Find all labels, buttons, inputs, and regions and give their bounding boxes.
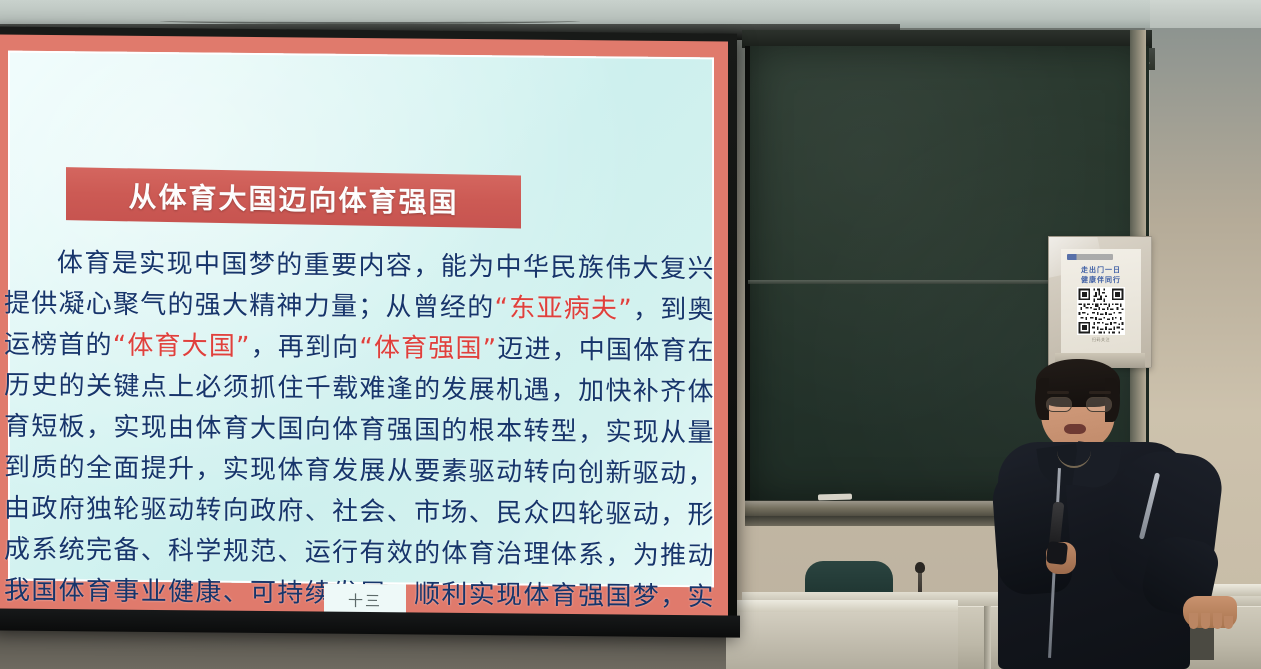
microphone-grip [1046,541,1068,565]
poster-headline-1: 走出门一日 [1061,265,1141,275]
ceiling-cable [160,18,580,24]
slide-title-banner: 从体育大国迈向体育强国 [66,167,521,228]
poster-headline-2: 健康伴同行 [1061,275,1141,285]
glasses-lens-right [1086,397,1112,412]
slide-title: 从体育大国迈向体育强国 [128,175,458,221]
presentation-slide: 从体育大国迈向体育强国 体育是实现中国梦的重要内容，能为中华民族伟大复兴提供凝心… [0,34,728,619]
presenter-brow-left [1047,391,1069,394]
finger [1201,613,1210,629]
slide-page-number: 十三 [348,589,382,610]
lecture-hall-scene: 走出门一日 健康伴同行 [0,0,1261,669]
qr-code-icon [1077,287,1125,335]
presenter [995,356,1225,669]
body-text-run: 迈进，中国体育在历史的关键点上必须抓住千载难逢的发展机遇，加快补齐体育短板，实现… [4,334,714,619]
poster-sheet: 走出门一日 健康伴同行 [1061,249,1141,359]
highlighted-phrase: “体育强国” [359,333,496,364]
front-desk-face [726,612,958,669]
slide-body-text: 体育是实现中国梦的重要内容，能为中华民族伟大复兴提供凝心聚气的强大精神力量；从曾… [4,243,714,620]
finger [1213,613,1222,629]
desk-seam [984,606,991,669]
glasses-icon [1046,397,1112,412]
glasses-lens-left [1046,397,1072,412]
presenter-brow-right [1089,391,1111,394]
poster-footer: 扫码关注 [1061,337,1141,343]
poster-logo-icon [1067,254,1113,260]
chalk-piece [818,494,852,501]
wall-poster: 走出门一日 健康伴同行 [1048,236,1152,368]
finger [1189,613,1198,629]
highlighted-phrase: “体育大国” [113,331,250,362]
body-text-run: ，再到向 [250,332,359,363]
desk-microphone-head-icon [915,562,925,573]
finger [1224,616,1233,629]
presenter-mouth [1064,424,1086,434]
highlighted-phrase: “东亚病夫” [495,293,633,324]
presenter-right-hand [1183,596,1237,628]
